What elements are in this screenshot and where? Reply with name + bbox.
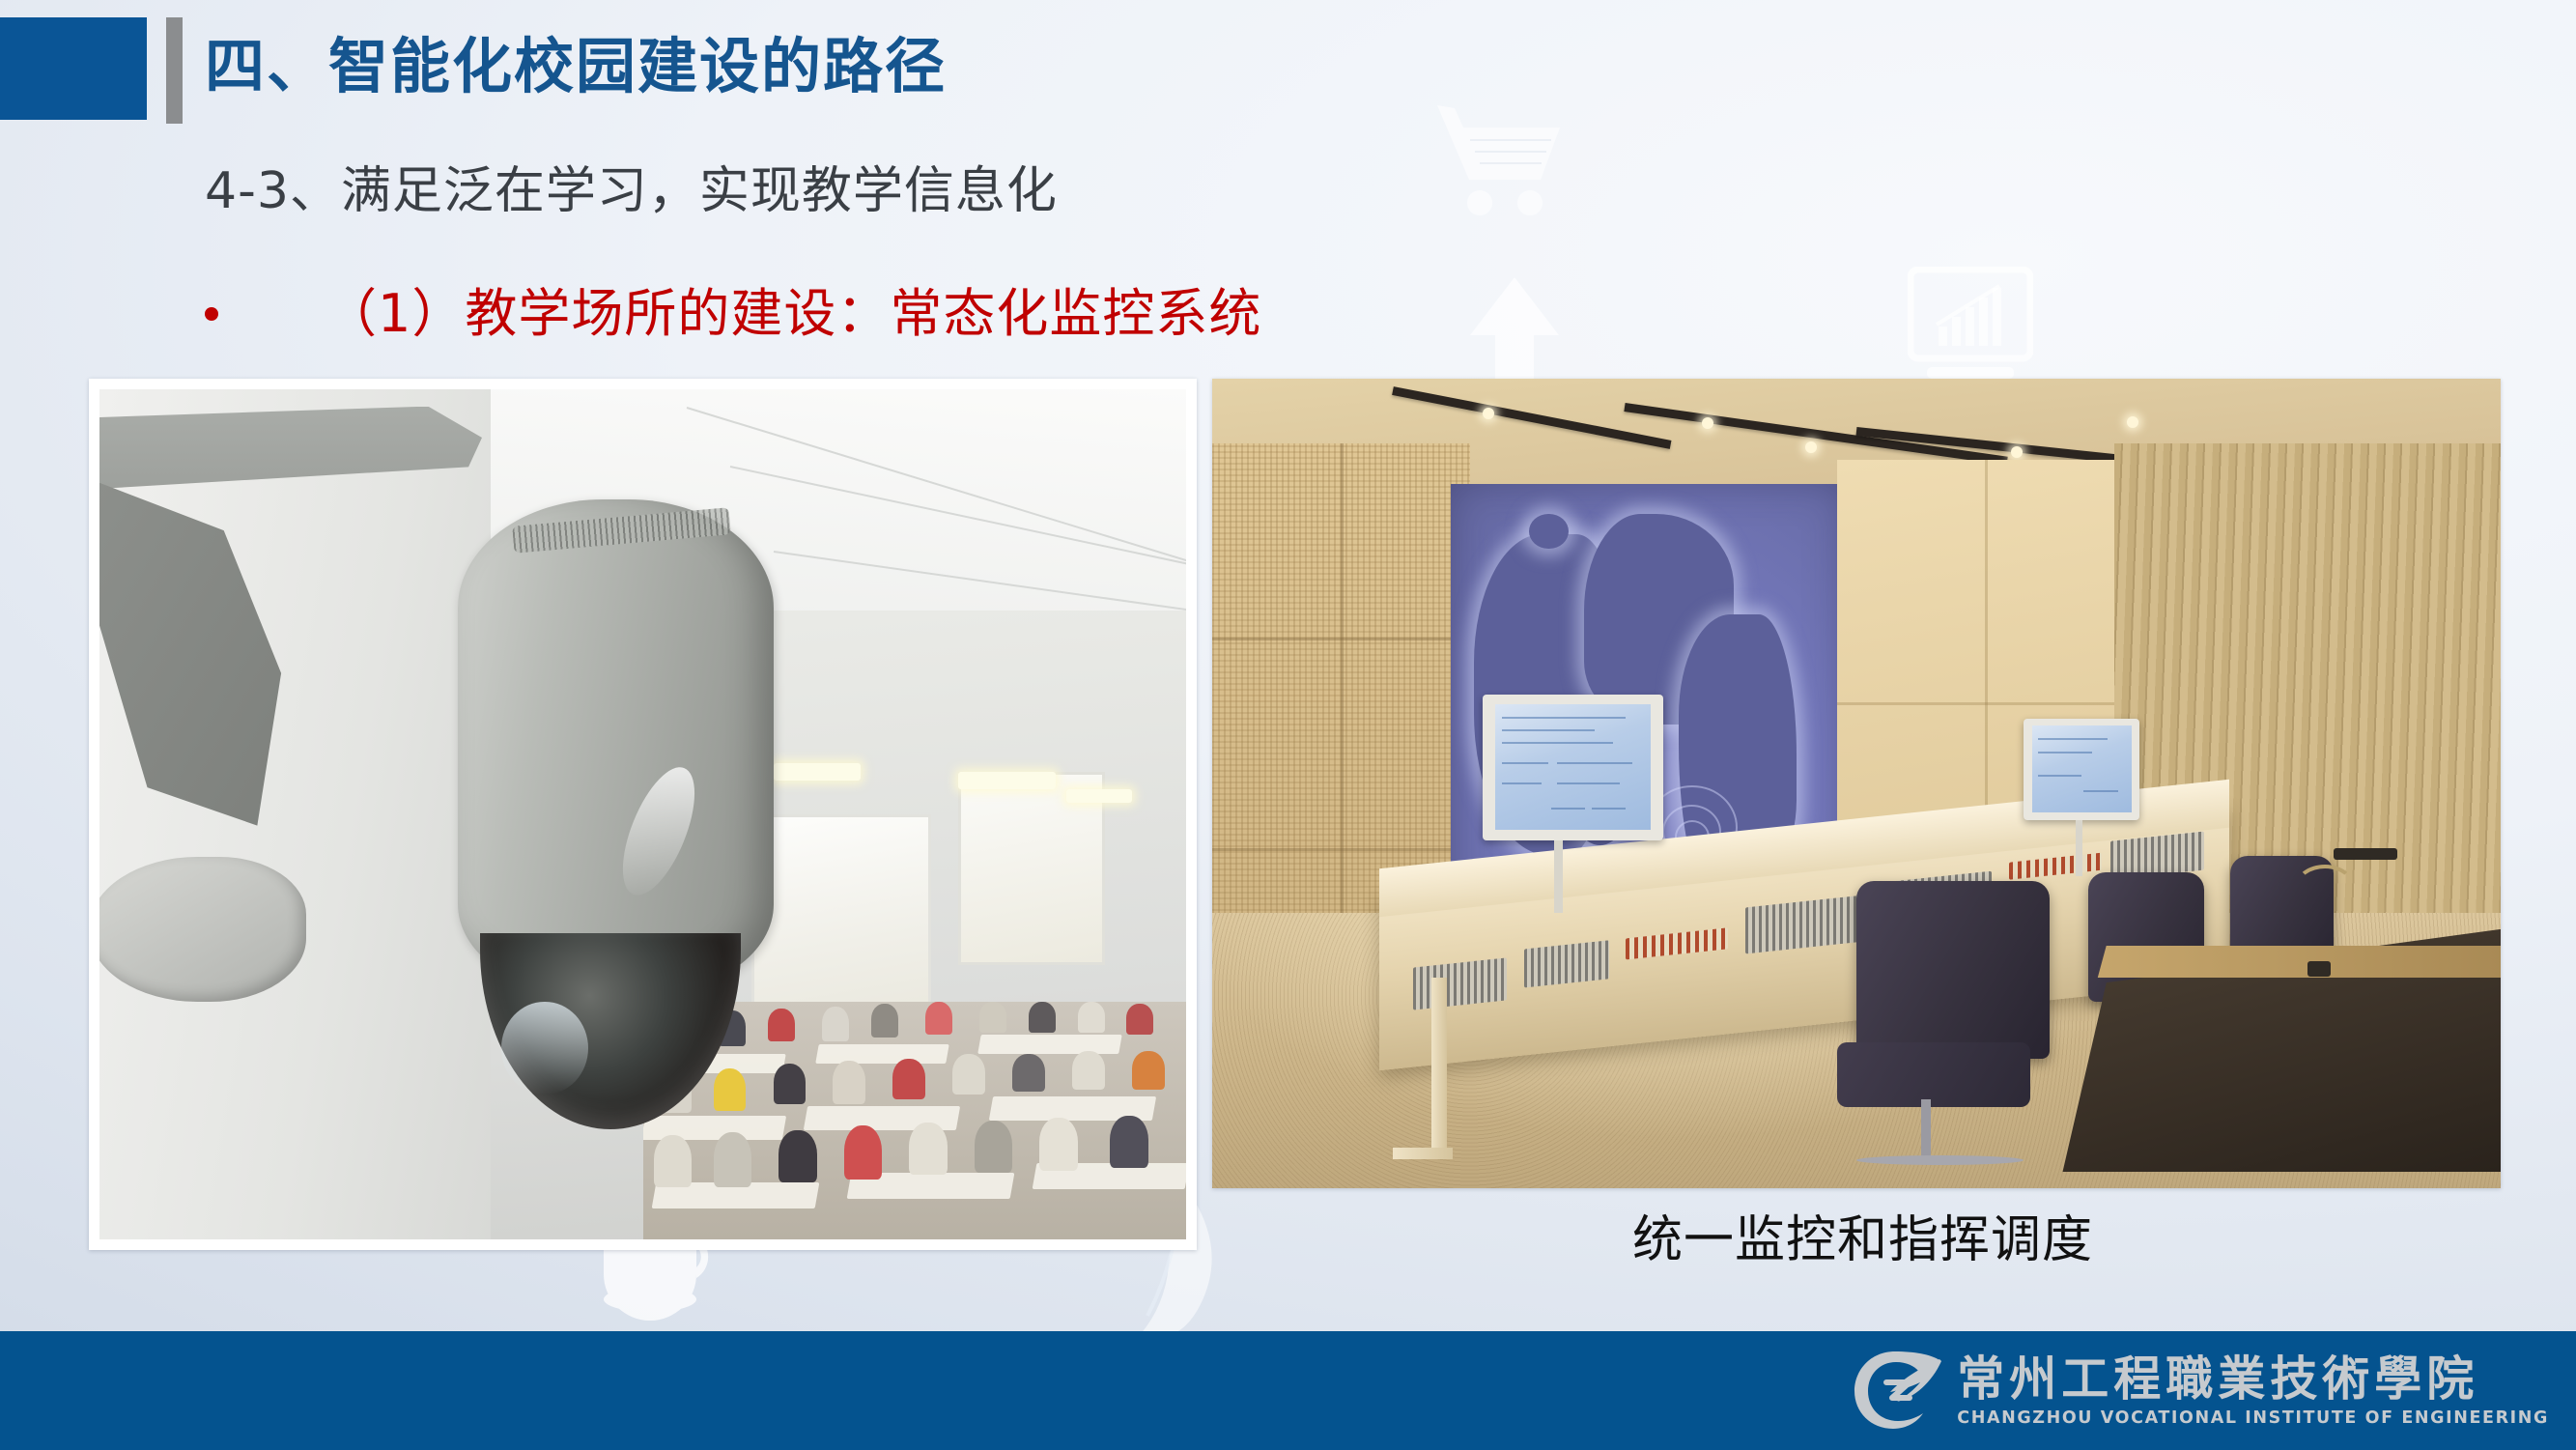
title-accent-block [0,17,147,120]
classroom-ptz-camera-photo [89,379,1197,1250]
section-subtitle: 4-3、满足泛在学习，实现教学信息化 [205,156,1058,226]
page-title: 四、智能化校园建设的路径 [205,25,947,108]
slide-footer: 常州工程職業技術學院 CHANGZHOU VOCATIONAL INSTITUT… [0,1331,2576,1450]
presentation-slide: 四、智能化校园建设的路径 4-3、满足泛在学习，实现教学信息化 （1）教学场所的… [0,0,2576,1450]
shopping-cart-icon [1430,101,1574,237]
institution-name-en: CHANGZHOU VOCATIONAL INSTITUTE OF ENGINE… [1957,1407,2549,1429]
console-monitor-right [2024,719,2139,820]
image-caption: 统一监控和指挥调度 [1632,1206,2093,1275]
title-divider-bar [166,17,183,124]
console-monitor-left [1483,695,1663,840]
bullet-dot-icon [205,307,218,321]
bullet-item-label: （1）教学场所的建设：常态化监控系统 [325,278,1261,350]
office-chair-front [1856,881,2050,1059]
institution-name-cn: 常州工程職業技術學院 [1957,1352,2549,1405]
bullet-item: （1）教学场所的建设：常态化监控系统 [205,278,1261,350]
institution-logo: 常州工程職業技術學院 CHANGZHOU VOCATIONAL INSTITUT… [1851,1340,2549,1440]
swoosh-crescent-emblem-icon [1851,1348,1943,1433]
control-room-photo [1212,379,2501,1188]
control-room-scene [1212,379,2501,1188]
monitor-chart-icon [1908,267,2033,384]
camera-scene [99,389,1186,1239]
